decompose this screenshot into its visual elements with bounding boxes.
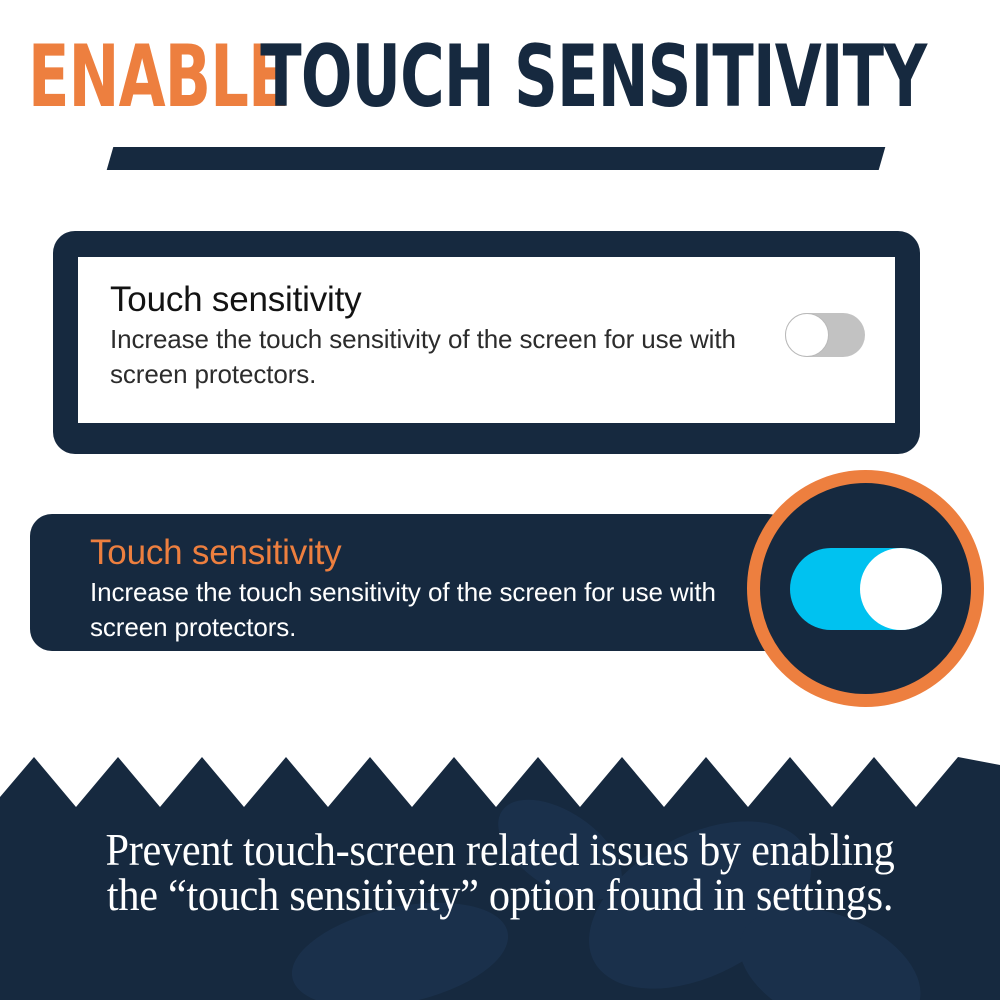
setting-card-on[interactable]: Touch sensitivity Increase the touch sen… <box>30 514 790 651</box>
page-title-highlight: ENABLE <box>28 36 289 118</box>
footer-caption: Prevent touch-screen related issues by e… <box>30 828 970 918</box>
title-divider-bar <box>107 147 886 170</box>
setting-description: Increase the touch sensitivity of the sc… <box>90 575 740 645</box>
setting-card-off[interactable]: Touch sensitivity Increase the touch sen… <box>53 231 920 454</box>
page-title-rest: TOUCH SENSITIVITY <box>260 36 926 118</box>
setting-title: Touch sensitivity <box>110 279 869 321</box>
page-title: ENABLETOUCH SENSITIVITY <box>28 36 969 118</box>
setting-description: Increase the touch sensitivity of the sc… <box>110 322 760 392</box>
touch-sensitivity-toggle-on-callout[interactable] <box>747 470 984 707</box>
setting-title-highlighted: Touch sensitivity <box>90 532 790 574</box>
touch-sensitivity-toggle-on[interactable] <box>790 548 942 630</box>
toggle-knob <box>785 313 829 357</box>
footer-banner: Prevent touch-screen related issues by e… <box>0 755 1000 1000</box>
setting-card-off-panel: Touch sensitivity Increase the touch sen… <box>78 257 895 423</box>
toggle-knob <box>860 548 942 630</box>
touch-sensitivity-toggle-off[interactable] <box>785 313 865 357</box>
header-banner: ENABLETOUCH SENSITIVITY <box>0 0 1000 190</box>
